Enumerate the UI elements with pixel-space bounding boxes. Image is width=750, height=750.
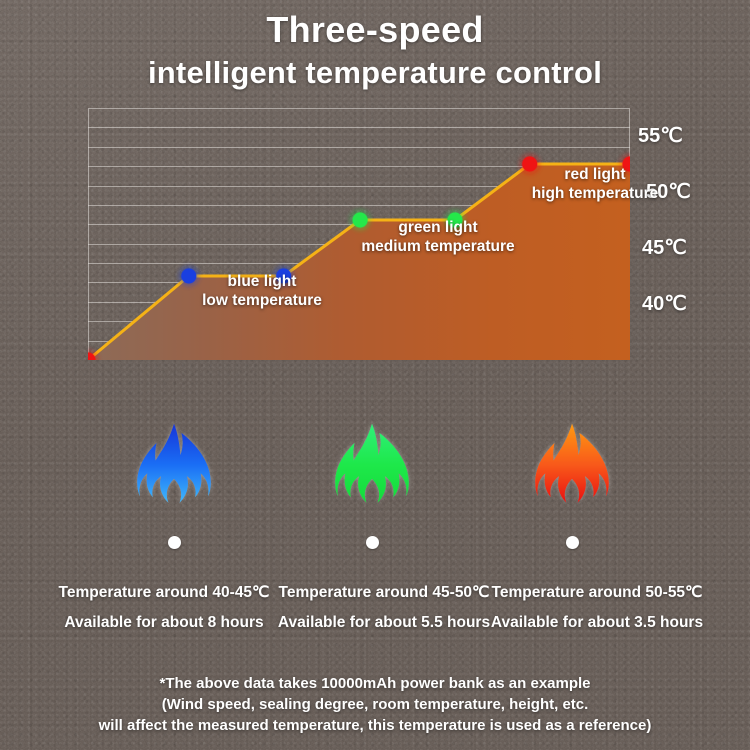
mode-duration-1: Available for about 8 hours (48, 608, 280, 638)
mode-caption-3: Temperature around 50-55℃Available for a… (486, 578, 708, 638)
mode-duration-2: Available for about 5.5 hours (268, 608, 500, 638)
y-axis-tick-40: 40℃ (642, 291, 687, 316)
page-title: Three-speed intelligent temperature cont… (0, 8, 750, 93)
footnote-line-3: will affect the measured temperature, th… (0, 715, 750, 736)
title-line-2: intelligent temperature control (0, 53, 750, 93)
blue-flame-icon (128, 402, 220, 530)
mode-temperature-1: Temperature around 40-45℃ (48, 578, 280, 608)
flame-icons-row (0, 402, 750, 572)
flame-shape (335, 424, 409, 503)
flame-cell-3 (472, 402, 672, 549)
annotation-blue-line2: low temperature (172, 291, 352, 310)
mode-caption-1: Temperature around 40-45℃Available for a… (48, 578, 280, 638)
annotation-blue: blue light low temperature (172, 272, 352, 310)
footnote-line-1: *The above data takes 10000mAh power ban… (0, 673, 750, 694)
indicator-dot-1[interactable] (168, 536, 181, 549)
y-axis-tick-45: 45℃ (642, 235, 687, 260)
annotation-green-line1: green light (318, 218, 558, 237)
footnote: *The above data takes 10000mAh power ban… (0, 673, 750, 736)
flame-shape (535, 424, 609, 503)
chart-y-axis-labels: 55℃50℃45℃40℃ (638, 108, 748, 360)
green-flame-icon (326, 402, 418, 530)
flame-cell-2 (272, 402, 472, 549)
indicator-dot-2[interactable] (366, 536, 379, 549)
flame-shape (137, 424, 211, 503)
indicator-dot-3[interactable] (566, 536, 579, 549)
annotation-green: green light medium temperature (318, 218, 558, 256)
mode-duration-3: Available for about 3.5 hours (486, 608, 708, 638)
mode-temperature-3: Temperature around 50-55℃ (486, 578, 708, 608)
annotation-red-line2: high temperature (490, 184, 700, 203)
y-axis-tick-55: 55℃ (638, 123, 683, 148)
annotation-red: red light high temperature (490, 165, 700, 203)
annotation-green-line2: medium temperature (318, 237, 558, 256)
annotation-red-line1: red light (490, 165, 700, 184)
flame-cell-1 (74, 402, 274, 549)
mode-temperature-2: Temperature around 45-50℃ (268, 578, 500, 608)
footnote-line-2: (Wind speed, sealing degree, room temper… (0, 694, 750, 715)
annotation-blue-line1: blue light (172, 272, 352, 291)
mode-caption-2: Temperature around 45-50℃Available for a… (268, 578, 500, 638)
red-flame-icon (526, 402, 618, 530)
title-line-1: Three-speed (0, 8, 750, 52)
